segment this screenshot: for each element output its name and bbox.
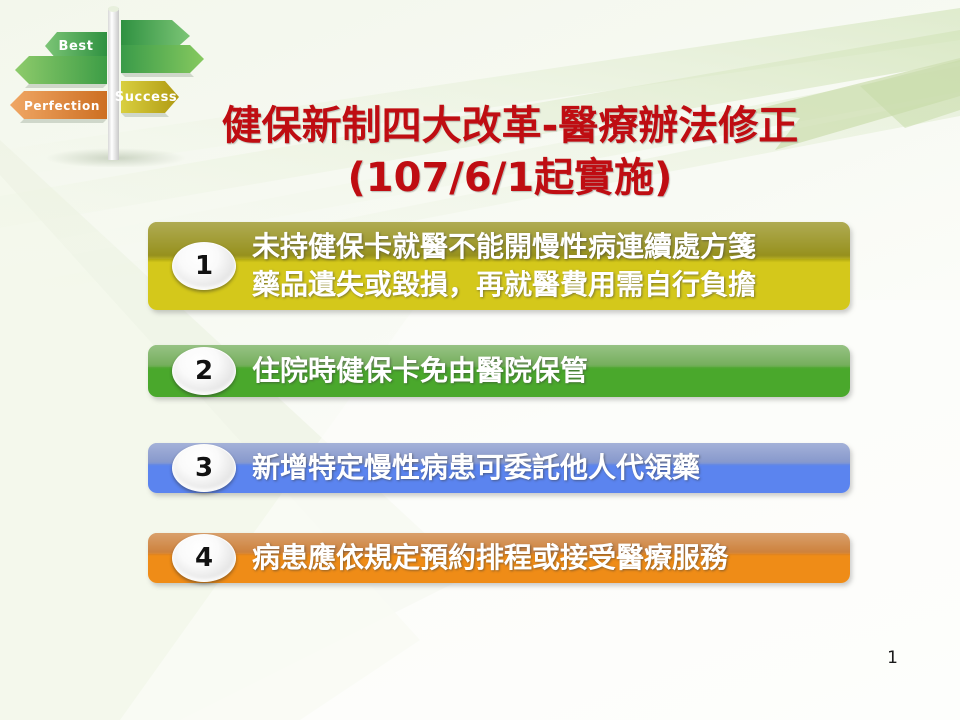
reform-item[interactable]: 2住院時健保卡免由醫院保管: [148, 345, 850, 397]
page-title-line1: 健保新制四大改革-醫療辦法修正: [120, 100, 900, 152]
reform-item-text-line: 新增特定慢性病患可委託他人代領藥: [252, 449, 836, 487]
reform-item[interactable]: 1未持健保卡就醫不能開慢性病連續處方箋藥品遺失或毀損，再就醫費用需自行負擔: [148, 222, 850, 310]
reform-item[interactable]: 3新增特定慢性病患可委託他人代領藥: [148, 443, 850, 493]
reform-item-number-badge: 2: [172, 347, 236, 395]
sign-label-best: Best: [58, 39, 93, 54]
reform-item-text: 病患應依規定預約排程或接受醫療服務: [252, 533, 836, 583]
reform-item-number: 1: [195, 253, 213, 279]
reform-item-text: 新增特定慢性病患可委託他人代領藥: [252, 443, 836, 493]
slide-canvas: Best Success Perfection 健保新制四大改革-醫療辦法修: [0, 0, 960, 720]
page-title-line2: (107/6/1起實施): [120, 152, 900, 204]
reform-item-number-badge: 1: [172, 242, 236, 290]
reform-item-number: 4: [195, 545, 213, 571]
sign-label-perfection: Perfection: [24, 99, 100, 113]
reform-item-text: 住院時健保卡免由醫院保管: [252, 345, 836, 397]
reform-item-number-badge: 4: [172, 534, 236, 582]
reform-item-text-line: 未持健保卡就醫不能開慢性病連續處方箋: [252, 228, 836, 266]
reform-item-text-line: 住院時健保卡免由醫院保管: [252, 352, 836, 390]
reform-item-number: 3: [195, 455, 213, 481]
page-number: 1: [887, 648, 898, 668]
reform-item-text: 未持健保卡就醫不能開慢性病連續處方箋藥品遺失或毀損，再就醫費用需自行負擔: [252, 222, 836, 310]
reform-item-number-badge: 3: [172, 444, 236, 492]
reform-item-text-line: 病患應依規定預約排程或接受醫療服務: [252, 539, 836, 577]
sign-arrow-left-wide: [15, 56, 107, 88]
sign-arrow-perfection: Perfection: [10, 91, 107, 123]
reform-item-text-line: 藥品遺失或毀損，再就醫費用需自行負擔: [252, 266, 836, 304]
reform-item-number: 2: [195, 358, 213, 384]
reform-item[interactable]: 4病患應依規定預約排程或接受醫療服務: [148, 533, 850, 583]
page-title: 健保新制四大改革-醫療辦法修正 (107/6/1起實施): [120, 100, 900, 204]
sign-arrow-right-mid: [121, 45, 204, 77]
